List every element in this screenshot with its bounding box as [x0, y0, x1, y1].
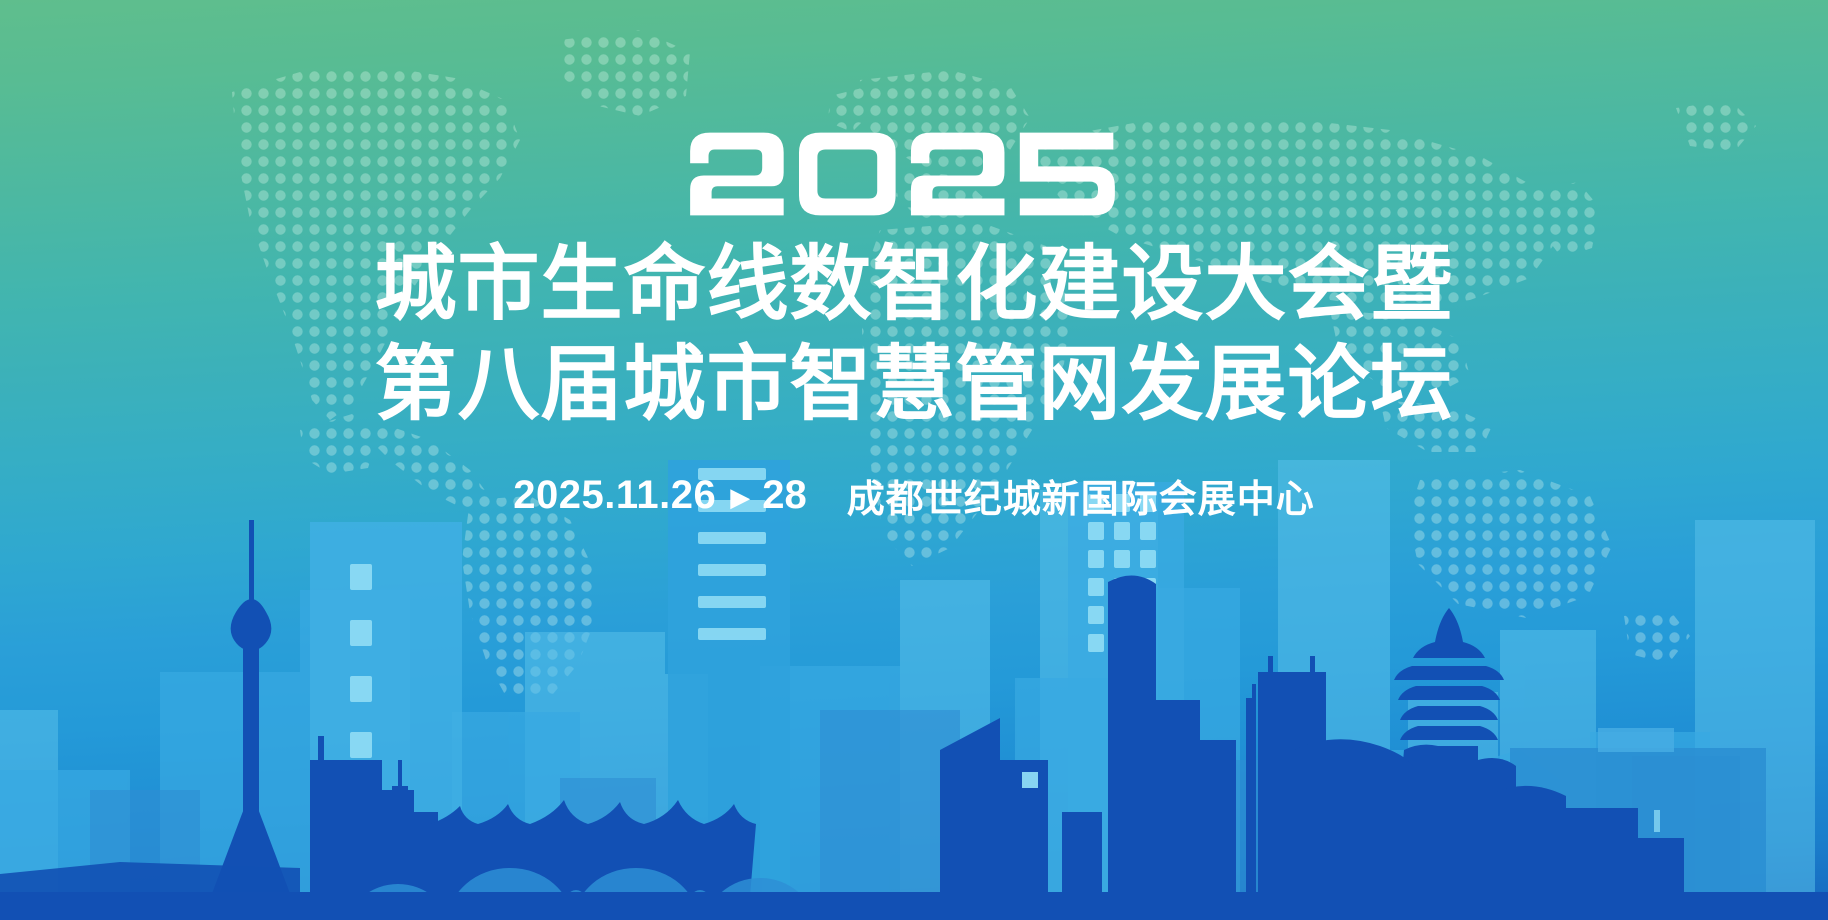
- banner-content: 城市生命线数智化建设大会暨 第八届城市智慧管网发展论坛 2025.11.26 ▶…: [0, 0, 1828, 920]
- conference-date-start: 2025.11.26: [513, 473, 716, 518]
- conference-venue: 成都世纪城新国际会展中心: [847, 468, 1315, 523]
- date-range-arrow-icon: ▶: [730, 484, 750, 510]
- conference-banner: 城市生命线数智化建设大会暨 第八届城市智慧管网发展论坛 2025.11.26 ▶…: [0, 0, 1828, 920]
- conference-title-line-1: 城市生命线数智化建设大会暨: [374, 244, 1453, 326]
- conference-subtitle: 2025.11.26 ▶ 28 成都世纪城新国际会展中心: [513, 468, 1315, 523]
- year-2025-wordmark: [684, 128, 1144, 220]
- conference-date-end: 28: [762, 473, 807, 518]
- conference-title-line-2: 第八届城市智慧管网发展论坛: [374, 344, 1453, 426]
